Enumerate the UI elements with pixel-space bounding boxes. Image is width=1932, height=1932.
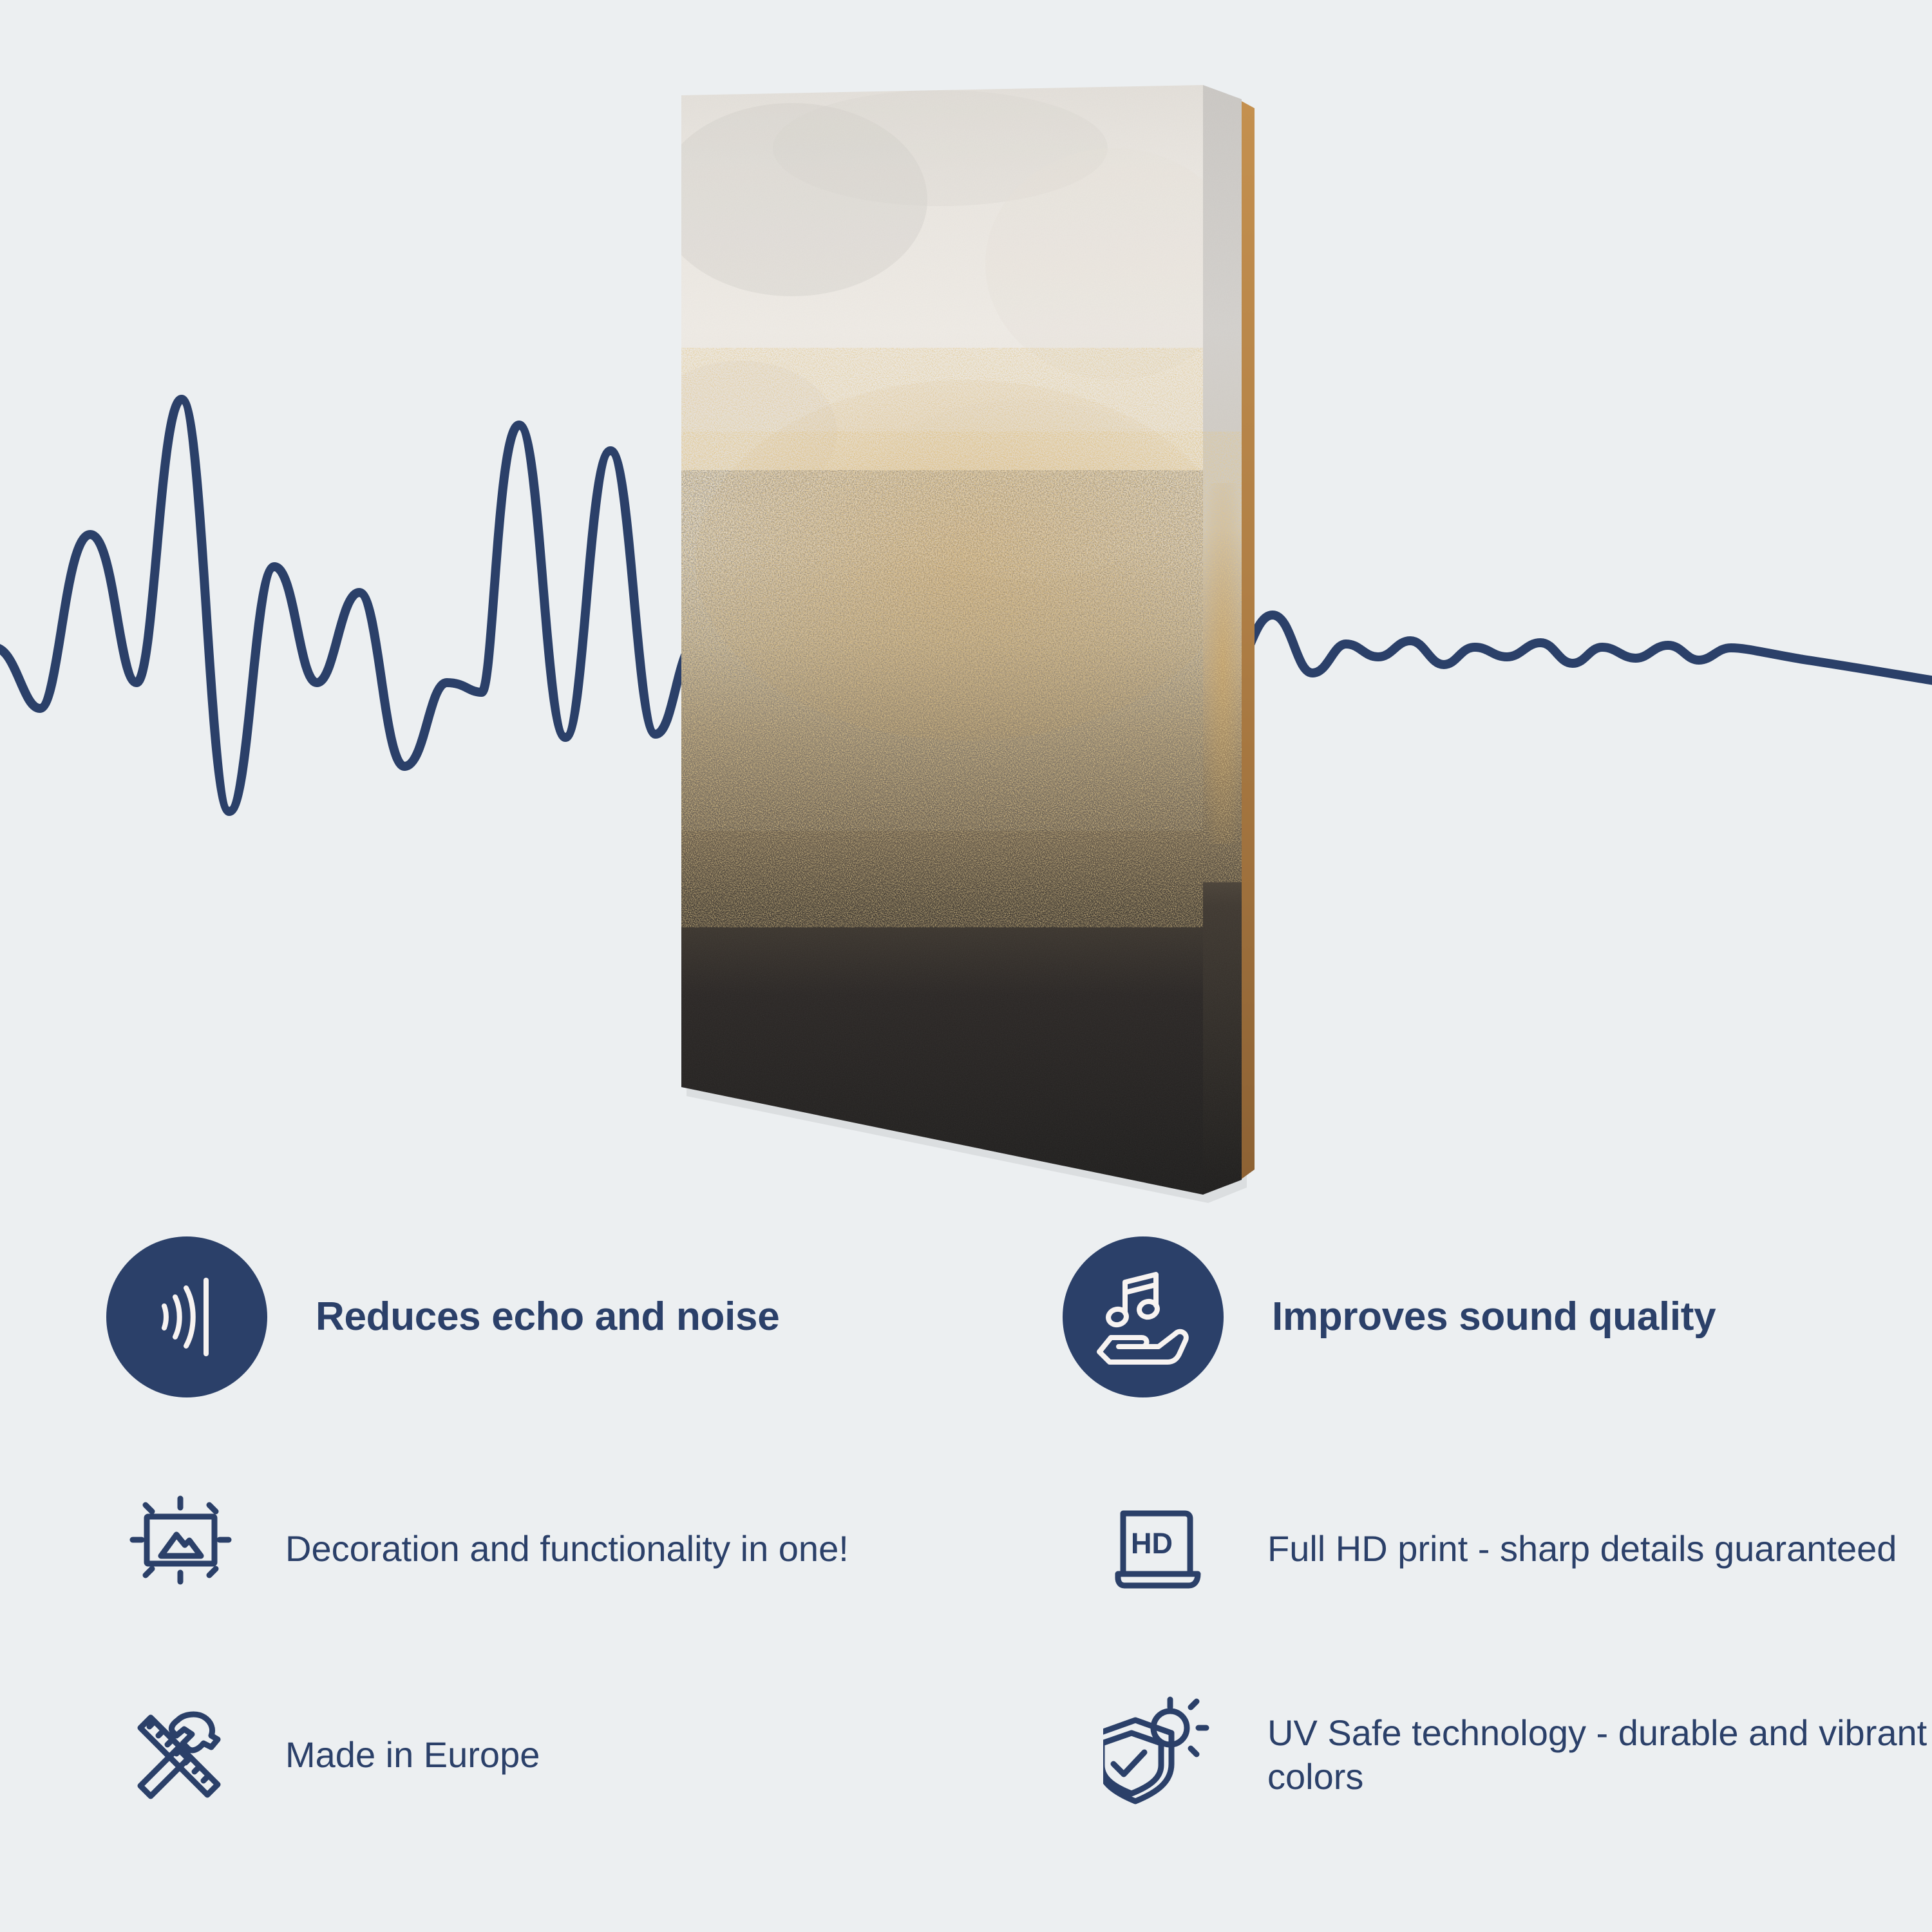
canvas-wood-edge (1240, 100, 1255, 1180)
feature-reduces-echo: Reduces echo and noise (106, 1236, 779, 1397)
feature-decoration-functionality: Decoration and functionality in one! (113, 1481, 849, 1616)
shining-picture-frame-icon (121, 1490, 240, 1609)
icon-box-uv-safe (1095, 1687, 1230, 1823)
feature-label-uv-safe: UV Safe technology - durable and vibrant… (1267, 1711, 1932, 1799)
icon-box-made-in-europe (113, 1687, 248, 1823)
feature-label-reduces-echo: Reduces echo and noise (316, 1295, 779, 1339)
feature-improves-sound: Improves sound quality (1063, 1236, 1716, 1397)
feature-uv-safe: UV Safe technology - durable and vibrant… (1095, 1687, 1932, 1823)
hd-icon-text: HD (1131, 1527, 1173, 1560)
feature-label-made-in-europe: Made in Europe (285, 1733, 540, 1777)
icon-box-decoration (113, 1481, 248, 1616)
badge-circle-reduces-echo (106, 1236, 267, 1397)
hd-screen-icon: HD (1108, 1494, 1217, 1604)
music-note-hand-icon (1092, 1265, 1195, 1368)
ruler-hammer-icon (121, 1696, 240, 1815)
shield-sun-icon (1103, 1696, 1222, 1815)
feature-made-in-europe: Made in Europe (113, 1687, 540, 1823)
feature-full-hd-print: HD Full HD print - sharp details guarant… (1095, 1481, 1897, 1616)
feature-label-hd: Full HD print - sharp details guaranteed (1267, 1527, 1897, 1571)
feature-label-decoration: Decoration and functionality in one! (285, 1527, 849, 1571)
sound-waves-panel-icon (138, 1269, 235, 1365)
badge-circle-improves-sound (1063, 1236, 1224, 1397)
infographic-stage: Reduces echo and noise Improves sound qu… (0, 0, 1932, 1932)
canvas-print-image (663, 71, 1262, 1224)
feature-label-improves-sound: Improves sound quality (1272, 1295, 1716, 1339)
icon-box-hd: HD (1095, 1481, 1230, 1616)
